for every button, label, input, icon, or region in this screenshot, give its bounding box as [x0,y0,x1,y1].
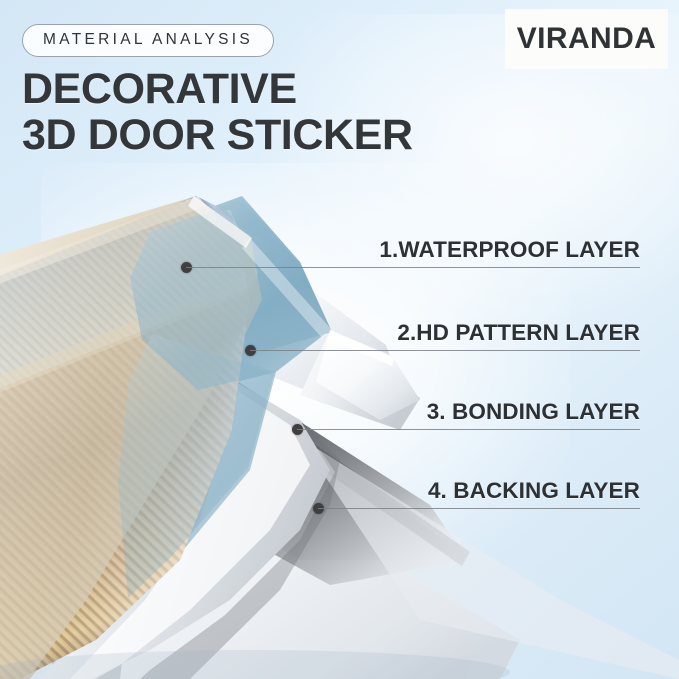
background-glow [41,163,571,584]
callout-leader-line-4 [318,508,640,509]
title-line-2: 3D DOOR STICKER [22,112,413,158]
brand-name: VIRANDA [517,24,656,54]
callout-label-1: 1.WATERPROOF LAYER [379,237,640,263]
title-line-1: DECORATIVE [22,65,297,113]
eyebrow-badge: MATERIAL ANALYSIS [22,24,274,57]
callout-leader-line-3 [297,429,640,430]
brand-logo-box: VIRANDA [505,9,668,69]
product-material-analysis-poster: MATERIAL ANALYSIS DECORATIVE 3D DOOR STI… [0,0,679,679]
callout-leader-line-2 [250,350,640,351]
callout-leader-line-1 [186,267,640,268]
callout-label-2: 2.HD PATTERN LAYER [397,320,640,346]
page-title: DECORATIVE 3D DOOR STICKER [22,66,413,158]
callout-label-3: 3. BONDING LAYER [427,399,640,425]
callout-label-4: 4. BACKING LAYER [428,478,640,504]
